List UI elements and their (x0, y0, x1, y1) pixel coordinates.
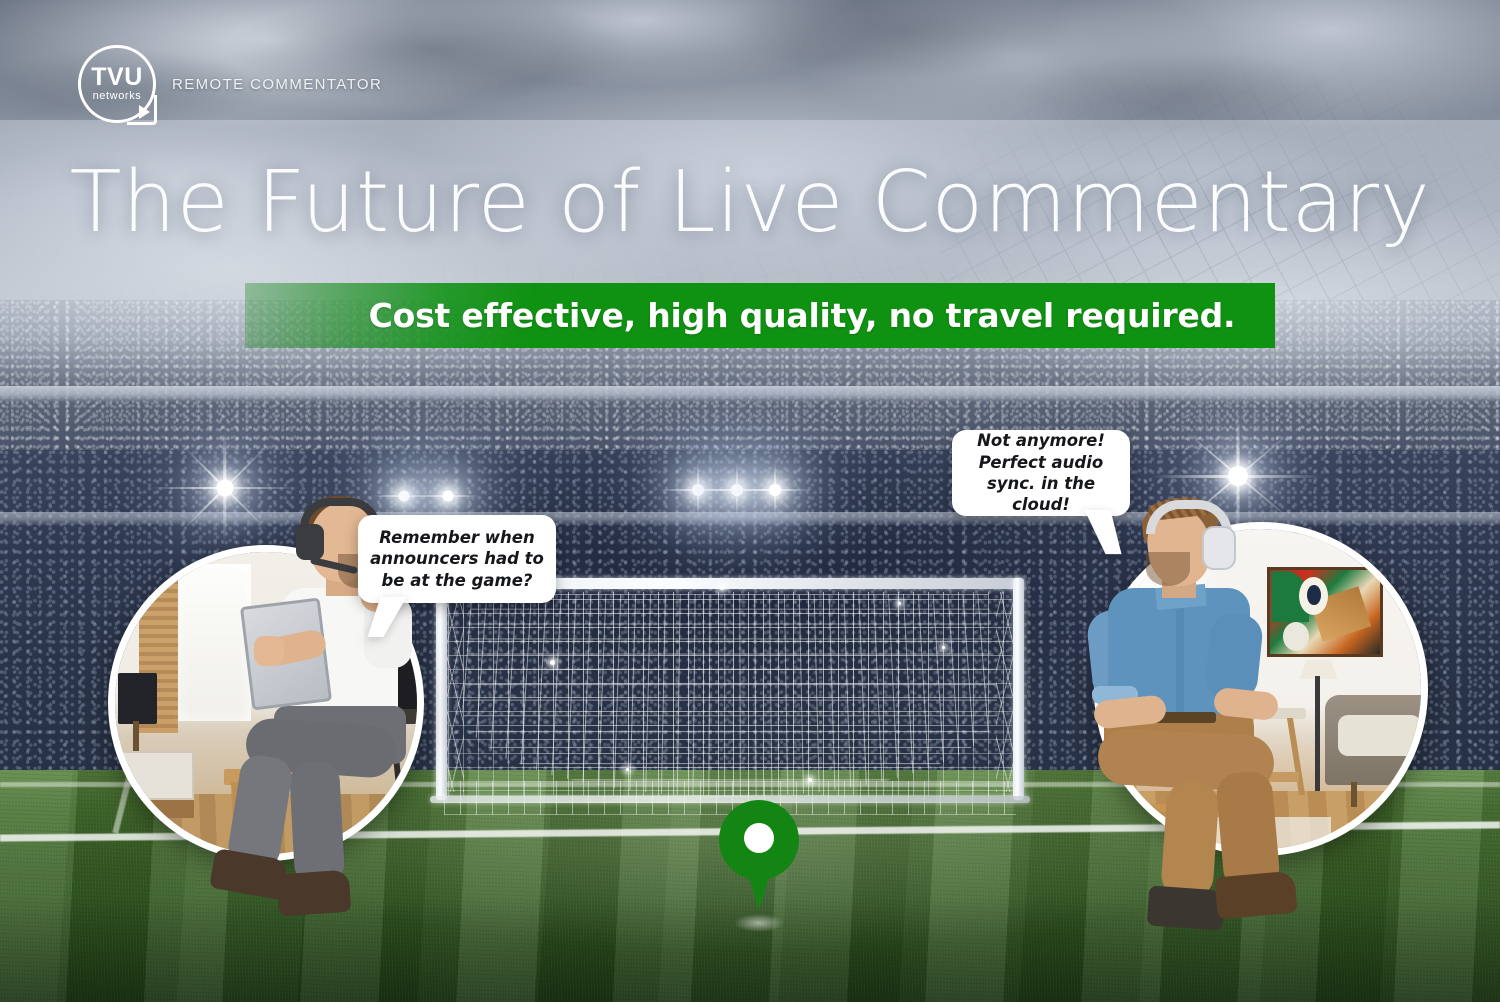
tier-rail-upper (0, 386, 1500, 402)
speech-bubble-right: Not anymore! Perfect audio sync. in the … (952, 430, 1130, 516)
logo-primary-text: TVU (78, 65, 156, 90)
goal-post-right (1013, 578, 1024, 800)
subtitle-text: Cost effective, high quality, no travel … (245, 283, 1275, 348)
promo-banner: Remember when announcers had to be at th… (0, 0, 1500, 1002)
bubble-right-line2: Perfect audio (964, 452, 1118, 473)
bubble-left-line3: be at the game? (370, 570, 544, 591)
speech-bubble-left: Remember when announcers had to be at th… (358, 515, 556, 603)
product-label: REMOTE COMMENTATOR (172, 76, 382, 93)
bubble-left-line1: Remember when (370, 527, 544, 548)
tvu-circle-play-logo[interactable]: TVU networks (78, 45, 156, 123)
logo-secondary-text: networks (78, 91, 156, 102)
pin-ground-glow (723, 910, 795, 936)
brand-lockup[interactable]: TVU networks REMOTE COMMENTATOR (78, 45, 382, 123)
person-right (1090, 500, 1390, 940)
page-title: The Future of Live Commentary (0, 158, 1500, 247)
bubble-right-line1: Not anymore! (964, 430, 1118, 451)
bubble-left-line2: announcers had to (370, 548, 544, 569)
play-triangle-icon (139, 105, 150, 119)
subtitle-banner: Cost effective, high quality, no travel … (245, 283, 1275, 348)
soccer-goal (430, 578, 1030, 813)
map-pin-marker (719, 800, 799, 912)
